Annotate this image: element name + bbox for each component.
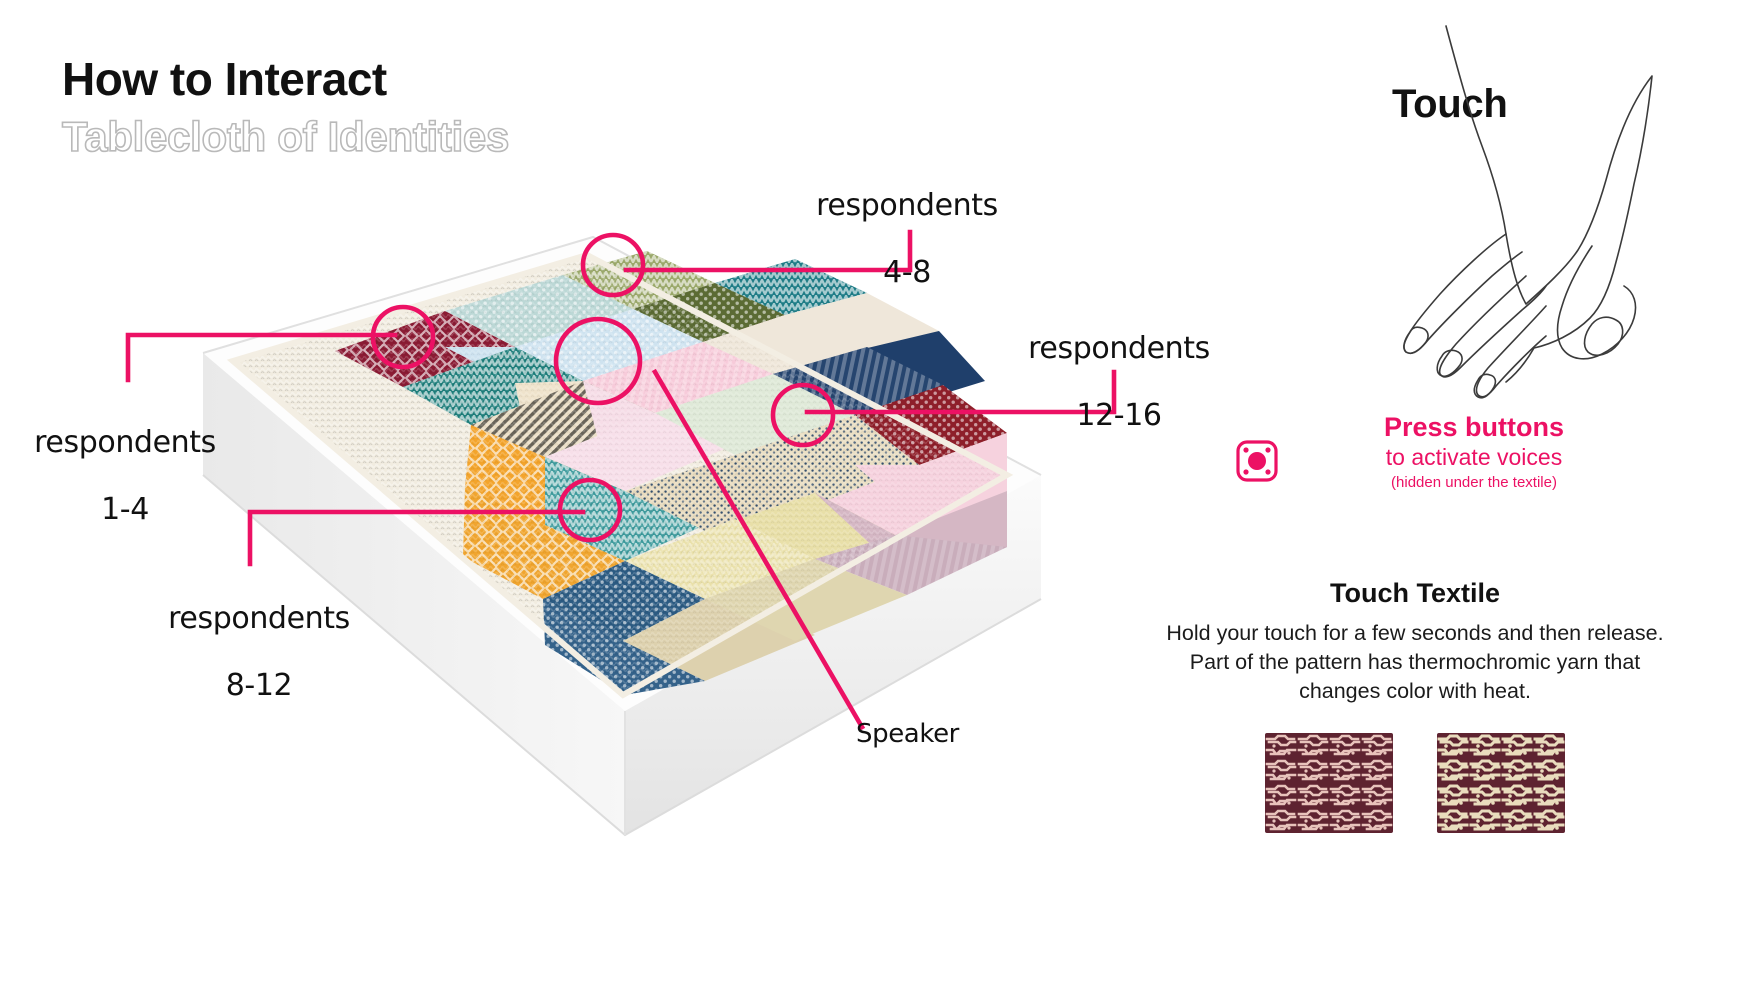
callout-respondents-12-16: respondents 12-16: [1000, 298, 1238, 466]
press-buttons-title: Press buttons: [1293, 412, 1655, 443]
thermochromic-swatch-after: [1437, 733, 1565, 833]
poster-canvas: How to Interact Tablecloth of Identities…: [0, 0, 1749, 985]
press-buttons-block: Press buttons to activate voices (hidden…: [1235, 412, 1655, 492]
callout-line2: 12-16: [1000, 399, 1238, 433]
callout-line2: 4-8: [788, 256, 1026, 290]
thermochromic-swatches: [1165, 733, 1665, 833]
page-subtitle: Tablecloth of Identities: [62, 116, 509, 158]
hand-line-icon: [1404, 26, 1652, 398]
callout-line1: respondents: [788, 189, 1026, 223]
hand-illustration: [1330, 18, 1730, 418]
button-press-icon: [1235, 439, 1279, 483]
callout-line2: 1-4: [10, 493, 240, 527]
callout-line1: respondents: [1000, 332, 1238, 366]
callout-respondents-1-4: respondents 1-4: [10, 392, 240, 560]
touch-textile-description: Hold your touch for a few seconds and th…: [1165, 619, 1665, 707]
callout-line1: respondents: [140, 602, 378, 636]
page-title: How to Interact: [62, 56, 387, 102]
thermochromic-swatch-before: [1265, 733, 1393, 833]
callout-respondents-8-12: respondents 8-12: [140, 568, 378, 736]
touch-textile-block: Touch Textile Hold your touch for a few …: [1165, 578, 1665, 833]
callout-respondents-4-8: respondents 4-8: [788, 155, 1026, 323]
press-buttons-text: Press buttons to activate voices (hidden…: [1293, 412, 1655, 492]
callout-line2: 8-12: [140, 669, 378, 703]
press-buttons-subtitle: to activate voices: [1293, 444, 1655, 472]
callout-speaker: Speaker: [856, 720, 976, 749]
callout-line1: respondents: [10, 426, 240, 460]
touch-textile-title: Touch Textile: [1165, 578, 1665, 609]
press-buttons-note: (hidden under the textile): [1293, 474, 1655, 492]
